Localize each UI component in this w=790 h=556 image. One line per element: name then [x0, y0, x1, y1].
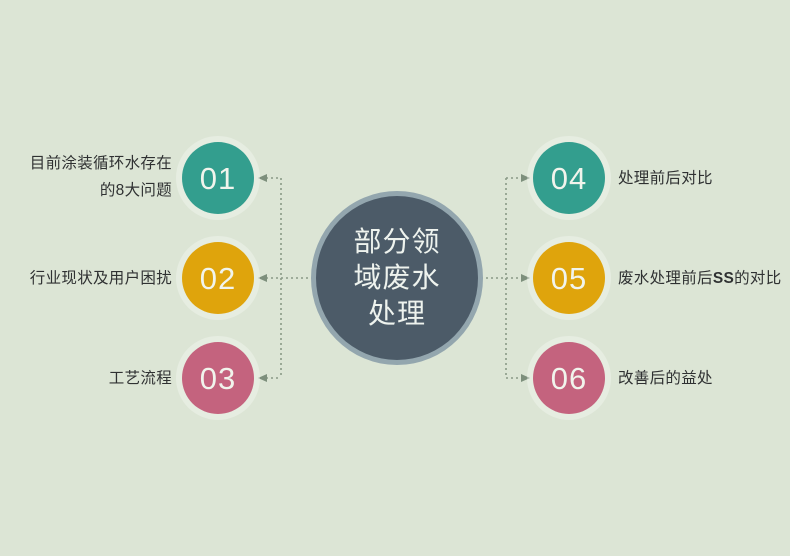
node-label-05: 废水处理前后SS的对比 [618, 265, 790, 292]
node-number-05: 05 [551, 263, 587, 294]
node-number-02: 02 [200, 263, 236, 294]
connector-arrowheads-left [258, 174, 267, 382]
node-circle-03[interactable]: 03 [182, 342, 254, 414]
node-number-01: 01 [200, 163, 236, 194]
center-hub-label: 部分领 域废水 处理 [339, 224, 455, 331]
node-circle-01[interactable]: 01 [182, 142, 254, 214]
center-hub[interactable]: 部分领 域废水 处理 [311, 191, 483, 365]
node-circle-02[interactable]: 02 [182, 242, 254, 314]
node-number-06: 06 [551, 363, 587, 394]
node-circle-04[interactable]: 04 [533, 142, 605, 214]
node-circle-06[interactable]: 06 [533, 342, 605, 414]
node-label-01: 目前涂装循环水存在 的8大问题 [0, 150, 172, 204]
node-label-04: 处理前后对比 [618, 165, 790, 192]
node-number-04: 04 [551, 163, 587, 194]
node-label-06: 改善后的益处 [618, 365, 790, 392]
node-number-03: 03 [200, 363, 236, 394]
connector-lines-right [481, 178, 521, 378]
connector-arrowheads-right [521, 174, 530, 382]
node-circle-05[interactable]: 05 [533, 242, 605, 314]
node-label-02: 行业现状及用户困扰 [0, 265, 172, 292]
mindmap-diagram: 部分领 域废水 处理 01 02 03 04 05 06 目前涂装循环水存在 的… [0, 0, 790, 556]
node-label-03: 工艺流程 [0, 365, 172, 392]
connector-lines-left [266, 178, 313, 378]
